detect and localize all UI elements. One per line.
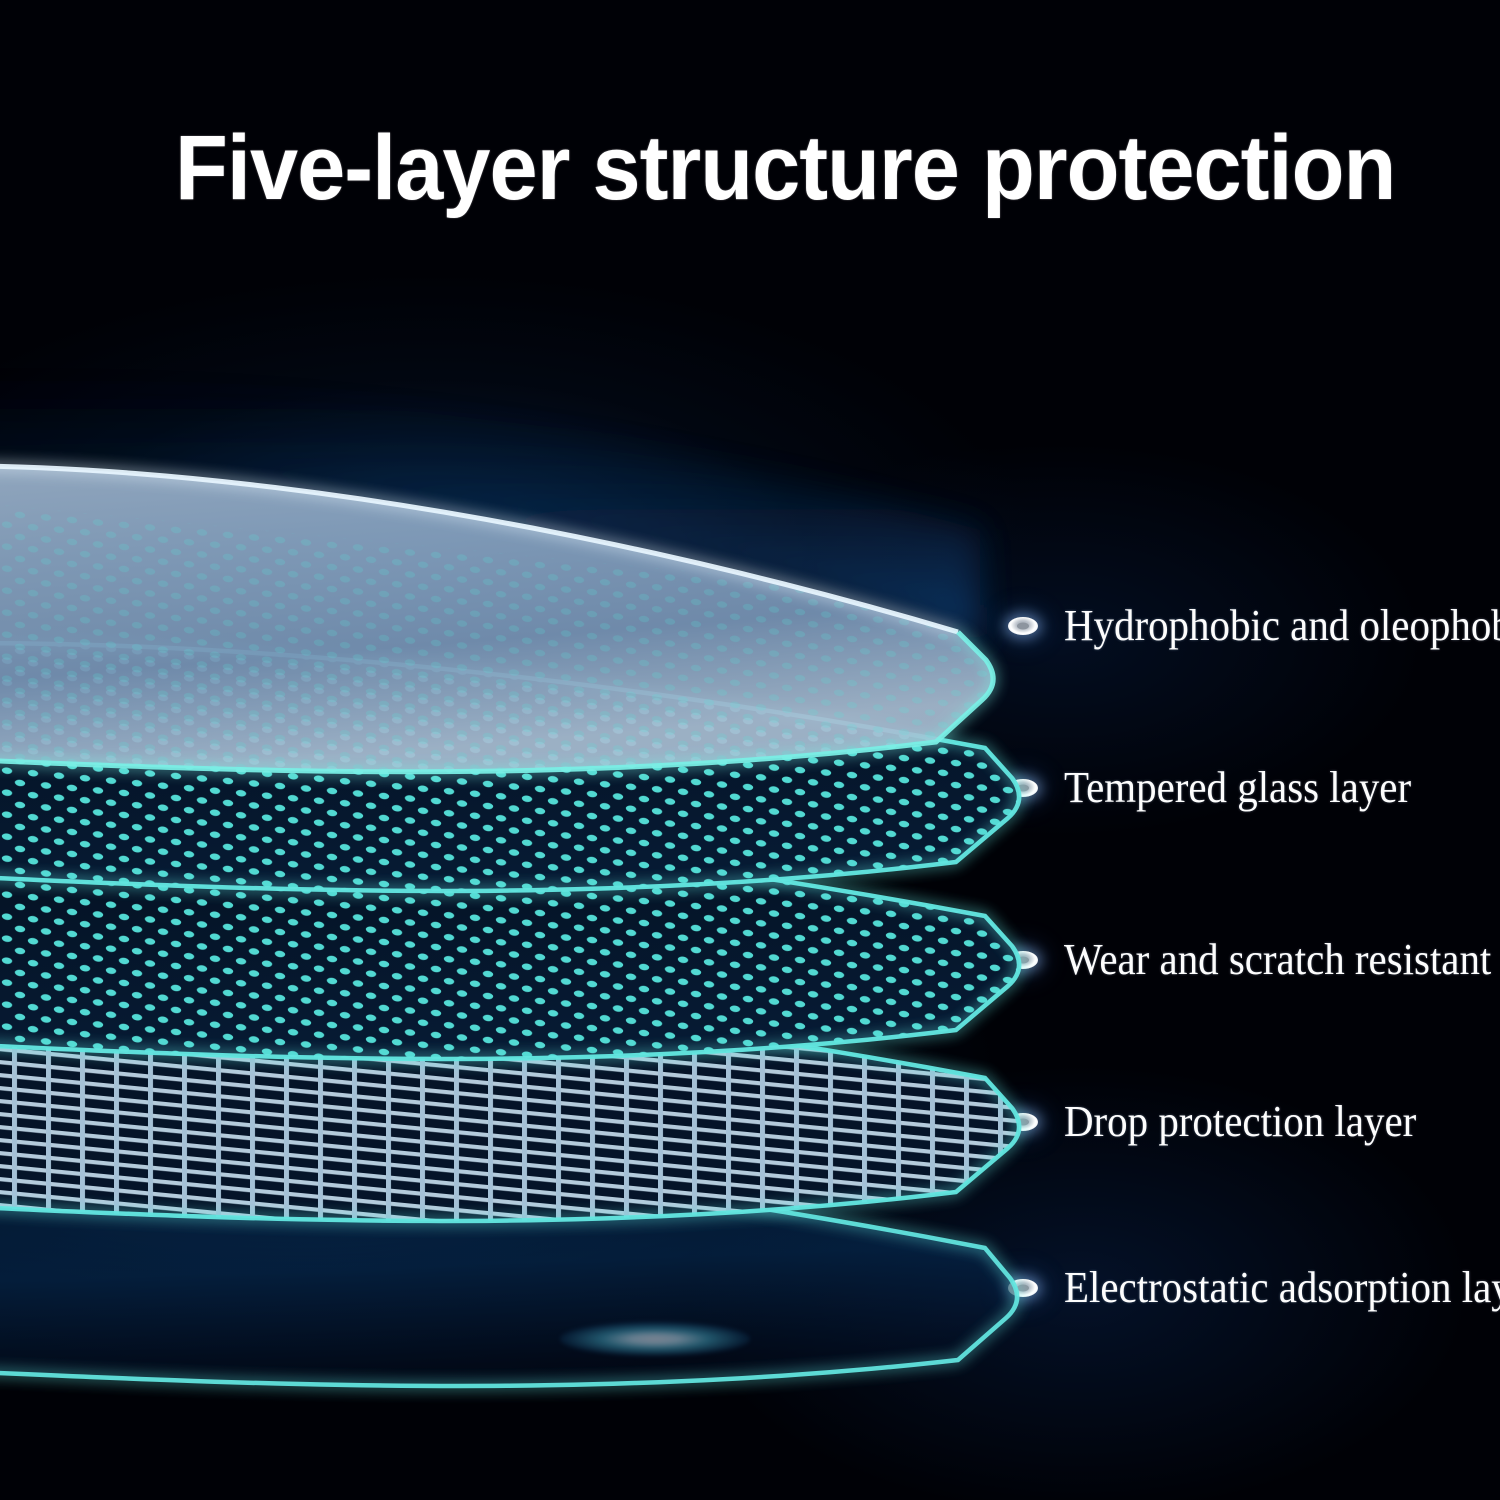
callout-label-4: Drop protection layer bbox=[1064, 1097, 1416, 1147]
callout-item-drop-protection[interactable]: Drop protection layer bbox=[1008, 1094, 1443, 1150]
diagram-canvas: Five-layer structure protection Hydropho… bbox=[0, 0, 1500, 1500]
callout-label-5: Electrostatic adsorption layer bbox=[1064, 1263, 1500, 1313]
layer-shape-1 bbox=[0, 360, 1060, 980]
callout-item-wear-resistant[interactable]: Wear and scratch resistant layer bbox=[1008, 932, 1500, 988]
callout-item-tempered-glass[interactable]: Tempered glass layer bbox=[1008, 760, 1437, 816]
callout-label-1: Hydrophobic and oleophobic layer bbox=[1064, 601, 1500, 651]
callout-label-3: Wear and scratch resistant layer bbox=[1064, 935, 1500, 985]
callout-item-electrostatic[interactable]: Electrostatic adsorption layer bbox=[1008, 1260, 1500, 1316]
callout-label-2: Tempered glass layer bbox=[1064, 763, 1411, 813]
callout-item-hydrophobic[interactable]: Hydrophobic and oleophobic layer bbox=[1008, 598, 1500, 654]
